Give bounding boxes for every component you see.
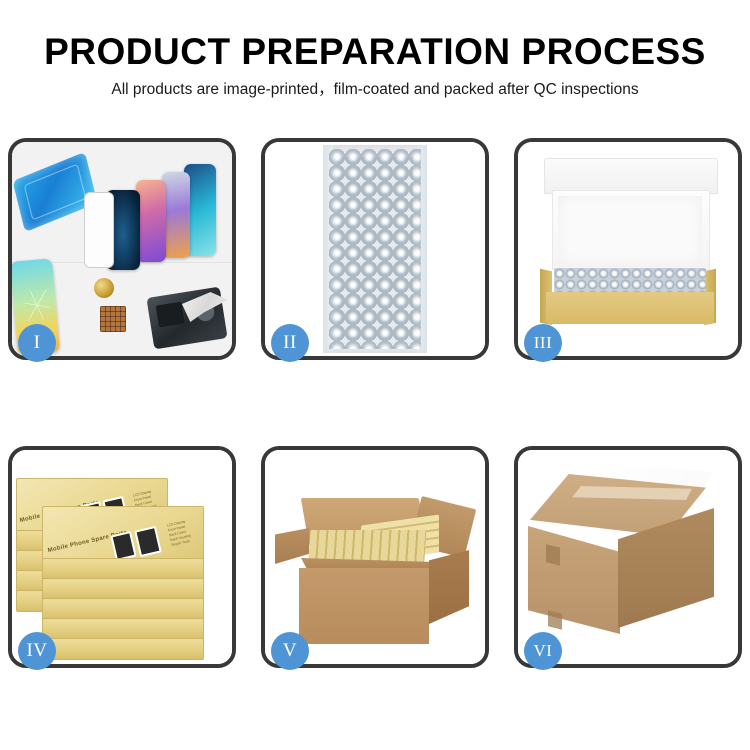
step-badge-1: I: [18, 324, 56, 362]
bubble-wrap-pouch: [323, 145, 427, 353]
stacked-box-front-6: [42, 638, 204, 660]
phone-purple-gradient: [136, 180, 166, 262]
chip-grid-part: [100, 306, 126, 332]
step-badge-6: VI: [524, 632, 562, 670]
carton-side-panel: [429, 550, 469, 624]
carton-handle-tab-lower: [548, 610, 562, 629]
phone-orange-gradient: [162, 172, 190, 258]
speaker-coil-part: [94, 278, 114, 298]
step-5-image: [265, 450, 485, 664]
stacked-box-front-5: [42, 618, 204, 640]
box-window-front-1: [110, 531, 136, 561]
mailer-box-lid: [544, 158, 718, 194]
process-step-card-1: I: [8, 138, 236, 360]
process-step-card-5: V: [261, 446, 489, 668]
page-title: PRODUCT PREPARATION PROCESS: [0, 30, 750, 74]
step-badge-3: III: [524, 324, 562, 362]
process-step-card-3: III: [514, 138, 742, 360]
step-6-image: [518, 450, 738, 664]
stacked-box-front-2: [42, 558, 204, 580]
process-step-card-6: VI: [514, 446, 742, 668]
sealed-carton-front: [528, 526, 620, 634]
box-checklist-front: LCD DisplayFront PanelBack CoverBack Hou…: [166, 519, 192, 548]
step-1-image: [12, 142, 232, 356]
carton-handle-tab-upper: [546, 544, 560, 565]
stacked-box-front-3: [42, 578, 204, 600]
foam-sheet: [558, 196, 702, 264]
process-step-grid: I II III: [8, 138, 742, 668]
process-step-card-4: Mobile Phone Spare Parts LCD DisplayFron…: [8, 446, 236, 668]
page-subtitle: All products are image-printed，film-coat…: [0, 79, 750, 101]
stacked-box-lid-front: Mobile Phone Spare Parts LCD DisplayFron…: [42, 506, 204, 562]
page-header: PRODUCT PREPARATION PROCESS All products…: [0, 0, 750, 101]
step-badge-5: V: [271, 632, 309, 670]
step-4-image: Mobile Phone Spare Parts LCD DisplayFron…: [12, 450, 232, 664]
box-window-front-2: [134, 526, 162, 557]
step-3-image: [518, 142, 738, 356]
screen-protector-glass: [84, 192, 114, 268]
carton-front-panel: [299, 568, 429, 644]
bubble-pattern-secondary: [337, 157, 413, 341]
box-stack: Mobile Phone Spare Parts LCD DisplayFron…: [12, 450, 232, 664]
step-2-image: [265, 142, 485, 356]
process-step-card-2: II: [261, 138, 489, 360]
step-badge-2: II: [271, 324, 309, 362]
step-badge-4: IV: [18, 632, 56, 670]
stacked-box-front-4: [42, 598, 204, 620]
mailer-box-front-panel: [546, 292, 714, 324]
